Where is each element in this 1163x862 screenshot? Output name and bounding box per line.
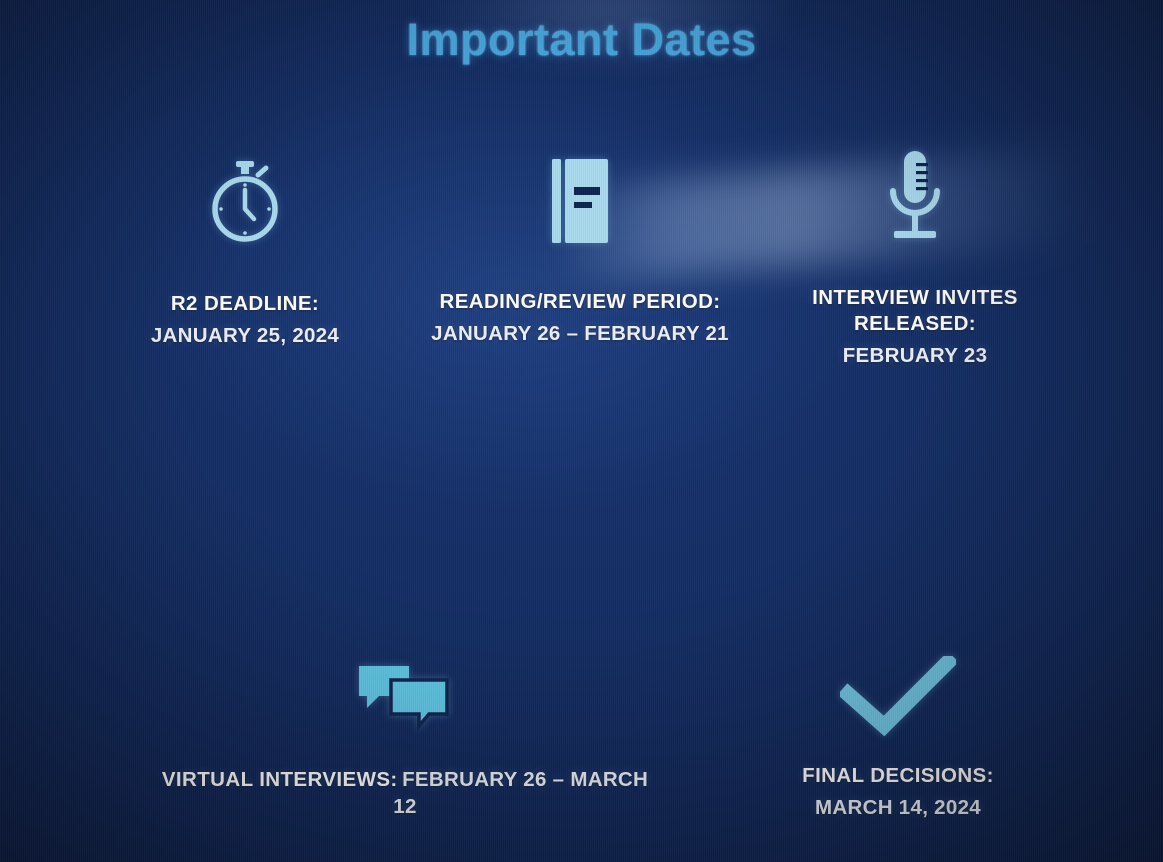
milestone-interview-invites: INTERVIEW INVITES RELEASED: FEBRUARY 23 (765, 143, 1065, 370)
microphone-icon (765, 143, 1065, 255)
milestone-r2-deadline: R2 DEADLINE: JANUARY 25, 2024 (95, 145, 395, 350)
page-title: Important Dates (0, 14, 1163, 66)
slide-surface: Important Dates R2 DEADLINE: JANUAR (0, 0, 1163, 862)
milestone-text: VIRTUAL INTERVIEWS: FEBRUARY 26 – MARCH … (155, 767, 655, 820)
milestone-label: READING/REVIEW PERIOD: (430, 289, 730, 315)
stopwatch-icon (95, 145, 395, 257)
milestone-dates: FEBRUARY 26 – MARCH 12 (393, 768, 648, 818)
milestone-text: READING/REVIEW PERIOD: JANUARY 26 – FEBR… (430, 289, 730, 348)
milestone-dates: FEBRUARY 23 (765, 343, 1065, 370)
chat-bubbles-icon (250, 650, 555, 745)
milestone-final-decisions: FINAL DECISIONS: MARCH 14, 2024 (748, 648, 1048, 822)
milestone-label: INTERVIEW INVITES RELEASED: (765, 285, 1065, 337)
milestone-label: VIRTUAL INTERVIEWS: (162, 768, 398, 791)
milestone-dates: JANUARY 26 – FEBRUARY 21 (430, 321, 730, 348)
milestone-dates: JANUARY 25, 2024 (95, 323, 395, 350)
checkmark-icon (748, 648, 1048, 743)
milestone-text: FINAL DECISIONS: MARCH 14, 2024 (748, 763, 1048, 822)
milestone-label: FINAL DECISIONS: (748, 763, 1048, 789)
milestone-text: INTERVIEW INVITES RELEASED: FEBRUARY 23 (765, 285, 1065, 370)
milestone-label: R2 DEADLINE: (95, 291, 395, 317)
milestone-reading-review: READING/REVIEW PERIOD: JANUARY 26 – FEBR… (430, 145, 730, 348)
slide-content: Important Dates R2 DEADLINE: JANUAR (0, 0, 1163, 862)
milestone-dates: MARCH 14, 2024 (748, 795, 1048, 822)
milestone-text: R2 DEADLINE: JANUARY 25, 2024 (95, 291, 395, 350)
milestone-virtual-interviews: VIRTUAL INTERVIEWS: FEBRUARY 26 – MARCH … (250, 650, 555, 820)
book-icon (430, 145, 730, 257)
